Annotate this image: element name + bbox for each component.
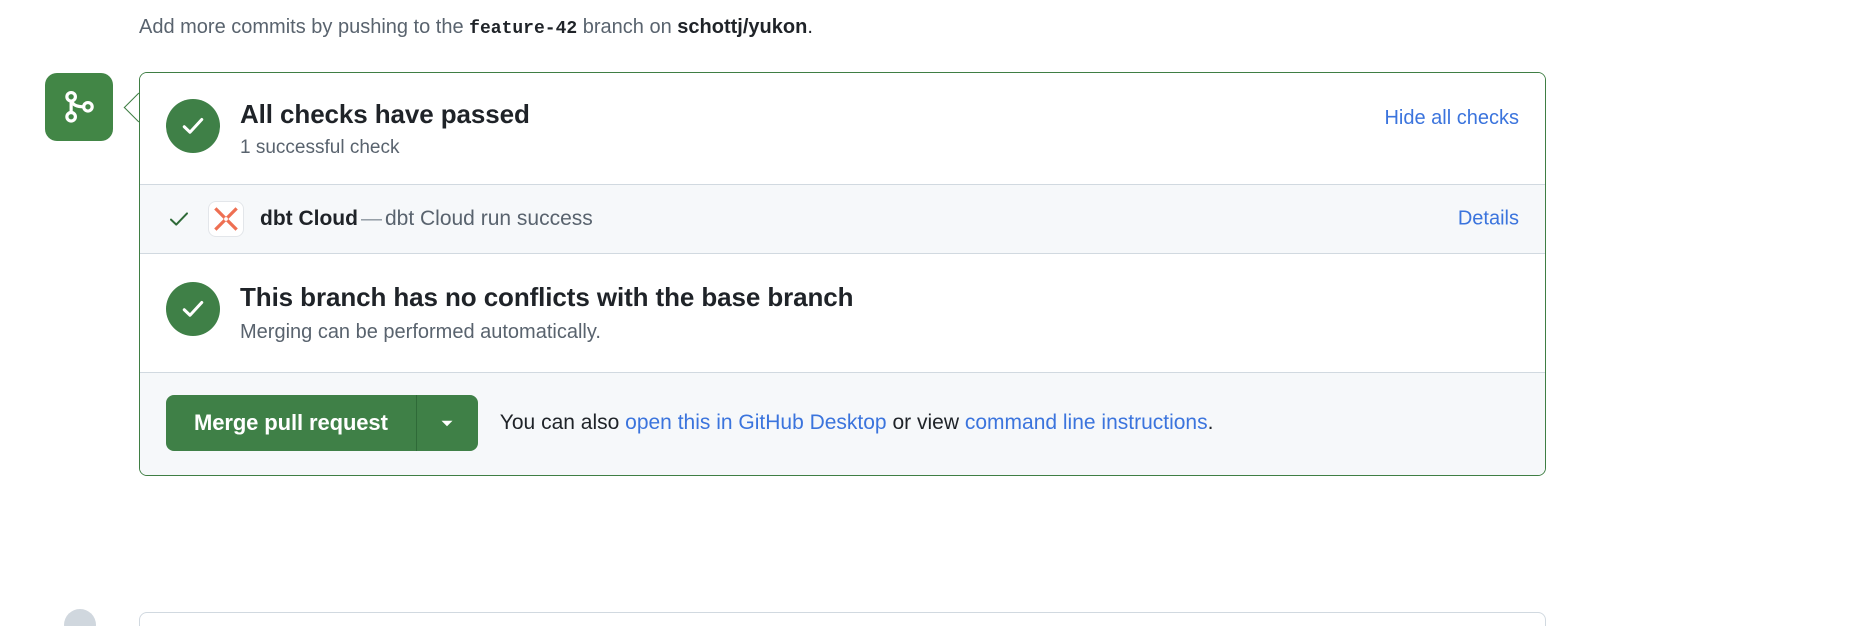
footer-note-middle: or view xyxy=(892,411,959,434)
avatar xyxy=(64,609,96,626)
checks-title: All checks have passed xyxy=(240,97,1519,131)
merge-action-footer: Merge pull request You can also open thi… xyxy=(140,372,1545,475)
chevron-down-icon xyxy=(436,412,458,434)
footer-note-prefix: You can also xyxy=(500,411,620,434)
merge-state-badge xyxy=(45,73,113,141)
merge-button-group: Merge pull request xyxy=(166,395,478,451)
pull-request-merge-panel: Add more commits by pushing to the featu… xyxy=(0,0,1868,626)
commits-hint-prefix: Add more commits by pushing to the xyxy=(139,16,464,38)
check-separator: — xyxy=(358,207,385,230)
commits-hint-suffix: . xyxy=(807,16,813,38)
open-in-github-desktop-link[interactable]: open this in GitHub Desktop xyxy=(625,411,886,434)
next-timeline-item xyxy=(139,612,1546,626)
check-row-text: dbt Cloud—dbt Cloud run success xyxy=(260,204,593,234)
conflicts-title: This branch has no conflicts with the ba… xyxy=(240,280,853,314)
branch-name: feature-42 xyxy=(469,19,577,39)
conflicts-subtitle: Merging can be performed automatically. xyxy=(240,318,853,346)
command-line-instructions-link[interactable]: command line instructions xyxy=(965,411,1208,434)
commits-hint-middle: branch on xyxy=(583,16,672,38)
merge-pull-request-button[interactable]: Merge pull request xyxy=(166,395,416,451)
check-name: dbt Cloud xyxy=(260,207,358,230)
footer-note-suffix: . xyxy=(1208,411,1214,434)
table-row[interactable]: dbt Cloud—dbt Cloud run success Details xyxy=(140,184,1545,253)
merge-box: All checks have passed 1 successful chec… xyxy=(139,72,1546,476)
git-merge-icon xyxy=(62,90,96,124)
checks-header-texts: All checks have passed 1 successful chec… xyxy=(240,97,1519,162)
check-icon xyxy=(166,207,192,231)
check-details-link[interactable]: Details xyxy=(1458,208,1519,231)
merge-footer-note: You can also open this in GitHub Desktop… xyxy=(500,408,1214,438)
repository-name: schottj/yukon xyxy=(677,16,807,38)
merge-options-dropdown-button[interactable] xyxy=(416,395,478,451)
check-description: dbt Cloud run success xyxy=(385,207,593,230)
check-circle-icon xyxy=(166,99,220,153)
checks-subtitle: 1 successful check xyxy=(240,134,1519,162)
conflicts-texts: This branch has no conflicts with the ba… xyxy=(240,280,853,346)
conflicts-section: This branch has no conflicts with the ba… xyxy=(140,253,1545,372)
check-circle-icon xyxy=(166,282,220,336)
add-more-commits-hint: Add more commits by pushing to the featu… xyxy=(139,12,813,44)
checks-header: All checks have passed 1 successful chec… xyxy=(140,73,1545,184)
merge-box-pointer xyxy=(120,90,140,124)
hide-all-checks-link[interactable]: Hide all checks xyxy=(1384,107,1519,130)
dbt-logo-icon xyxy=(208,201,244,237)
